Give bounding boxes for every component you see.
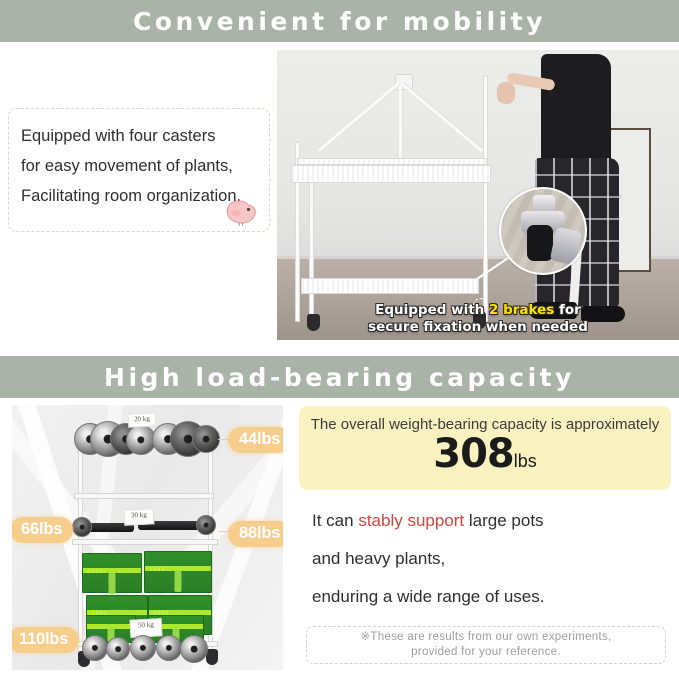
section-capacity: 20 kg 30 kg 50 kg: [0, 398, 679, 677]
rack-shelf-top: [74, 493, 214, 499]
section-banner-capacity: High load-bearing capacity: [0, 356, 679, 398]
callout-line-2: for easy movement of plants,: [21, 151, 257, 181]
weight-badge-44lbs: 44lbs: [228, 427, 283, 453]
caption-text-before: Equipped with: [375, 302, 489, 318]
photo-folding-stand-mobility: Equipped with 2 brakes for secure fixati…: [277, 50, 679, 340]
body-line-3: enduring a wide range of uses.: [312, 578, 672, 616]
rack-shelf-middle: [72, 539, 218, 545]
caption-line-2: secure fixation when needed: [277, 319, 679, 336]
caster-wheel-magnifier-inset: [499, 187, 587, 275]
capacity-unit: lbs: [514, 451, 537, 471]
photo-plant-stand: [287, 68, 517, 330]
caption-highlight-brakes: 2 brakes: [489, 302, 554, 318]
weight-badge-110lbs: 110lbs: [12, 627, 79, 653]
body-line-1: It can stably support large pots: [312, 502, 672, 540]
body-line-2: and heavy plants,: [312, 540, 672, 578]
caption-text-after: for: [554, 302, 581, 318]
photo-caption-brakes: Equipped with 2 brakes for secure fixati…: [277, 302, 679, 336]
disclaimer-box: ※These are results from our own experime…: [306, 626, 666, 664]
weight-badge-66lbs: 66lbs: [12, 517, 73, 543]
section-banner-mobility: Convenient for mobility: [0, 0, 679, 42]
body-text-before: It can: [312, 511, 358, 530]
banner-title-mobility: Convenient for mobility: [133, 7, 546, 36]
body-highlight-stably-support: stably support: [358, 511, 464, 530]
rack-caster-right: [206, 649, 218, 665]
body-text-after: large pots: [464, 511, 543, 530]
bird-icon: [223, 197, 257, 227]
disclaimer-line-2: provided for your reference.: [411, 645, 561, 660]
banner-title-capacity: High load-bearing capacity: [104, 363, 575, 392]
callout-line-1: Equipped with four casters: [21, 121, 257, 151]
capacity-highlight-box: The overall weight-bearing capacity is a…: [299, 406, 671, 490]
photo-load-test: 20 kg 30 kg 50 kg: [12, 405, 283, 670]
callout-line-3: Facilitating room organization.: [21, 181, 257, 211]
weight-badge-88lbs: 88lbs: [228, 521, 283, 547]
section-mobility: Equipped with four casters for easy move…: [0, 42, 679, 356]
disclaimer-line-1: ※These are results from our own experime…: [360, 630, 611, 645]
capacity-value: 308: [433, 431, 514, 477]
callout-casters: Equipped with four casters for easy move…: [8, 108, 270, 232]
capacity-body-copy: It can stably support large pots and hea…: [312, 502, 672, 616]
